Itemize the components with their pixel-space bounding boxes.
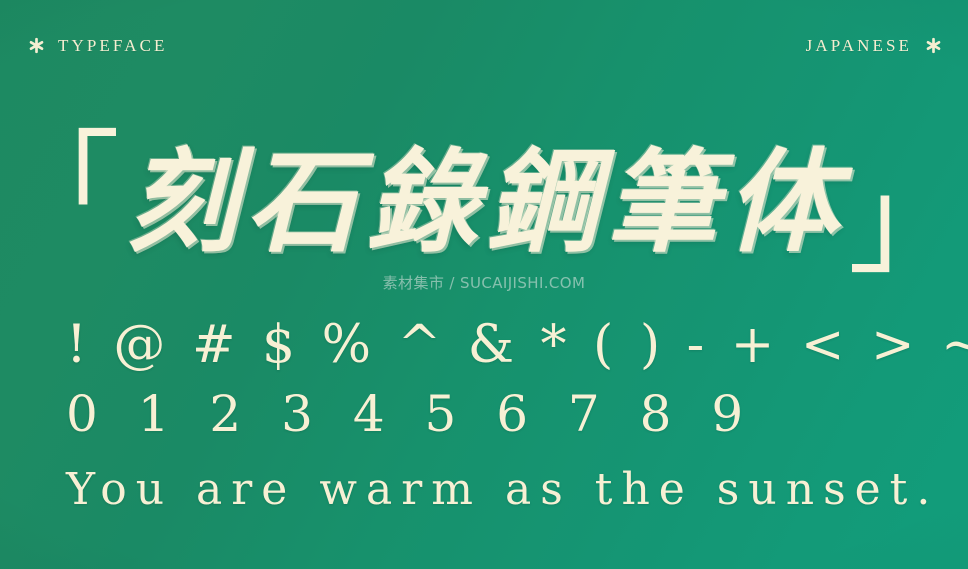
specimen-block: ! @ # $ % ^ & * ( ) - + < > ~ ? 0 1 2 3 … xyxy=(66,312,928,522)
headline-inner: 「 刻石錄鋼筆体 」 xyxy=(2,144,966,262)
header-left-group: TYPEFACE xyxy=(28,37,168,54)
header-japanese-label: JAPANESE xyxy=(806,37,912,54)
headline-cjk-text: 刻石錄鋼筆体 xyxy=(126,147,846,259)
headline-block: 「 刻石錄鋼筆体 」 xyxy=(0,118,968,288)
headline-close-bracket: 」 xyxy=(848,162,966,280)
poster-header: TYPEFACE JAPANESE xyxy=(28,30,942,60)
specimen-digits-row: 0 1 2 3 4 5 6 7 8 9 xyxy=(66,380,928,448)
header-right-group: JAPANESE xyxy=(806,37,942,54)
header-typeface-label: TYPEFACE xyxy=(58,37,168,54)
typeface-poster: TYPEFACE JAPANESE 「 刻石錄鋼筆体 」 xyxy=(0,0,968,569)
headline-open-bracket: 「 xyxy=(2,128,120,246)
specimen-sentence-row: You are warm as the sunset. xyxy=(66,458,928,522)
asterisk-flower-icon xyxy=(28,37,45,54)
asterisk-flower-icon xyxy=(925,37,942,54)
specimen-symbols-row: ! @ # $ % ^ & * ( ) - + < > ~ ? xyxy=(66,312,928,378)
